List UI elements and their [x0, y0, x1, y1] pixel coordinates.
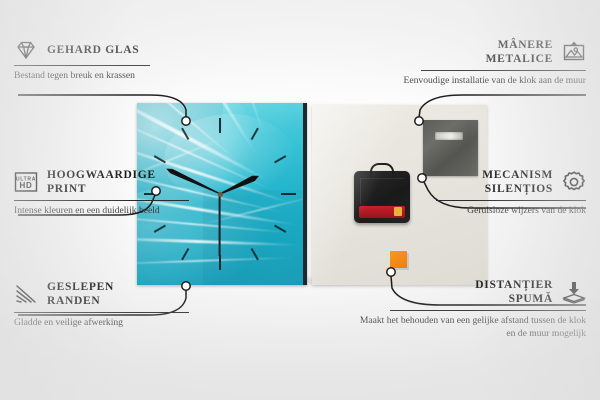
- callout-description: Eenvoudige installatie van de klok aan d…: [384, 75, 586, 88]
- callout-high-quality-print: ultra HD HOOGWAARDIGE PRINT Intense kleu…: [14, 168, 214, 218]
- callout-title-row: DISTANȚIER SPUMĂ: [356, 278, 586, 307]
- callout-title-row: ultra HD HOOGWAARDIGE PRINT: [14, 168, 214, 197]
- clock-tick-12: [219, 118, 221, 194]
- clock-tick-3: [220, 193, 296, 195]
- hanger-slot: [435, 132, 463, 140]
- callout-description: Geruisloze wijzers van de klok: [384, 205, 586, 218]
- callout-polished-edges: GESLEPEN RANDEN Gladde en veilige afwerk…: [14, 280, 219, 330]
- callout-divider: [390, 310, 586, 311]
- callout-metal-handles: MÂNERE METALICE Eenvoudige installatie v…: [384, 38, 586, 88]
- callout-divider: [436, 200, 586, 201]
- callout-divider: [14, 65, 150, 66]
- callout-divider: [14, 200, 189, 201]
- callout-title-row: GESLEPEN RANDEN: [14, 280, 219, 309]
- clock-center-pin: [218, 192, 223, 197]
- clock-second-hand: [219, 194, 221, 256]
- gear-icon: [562, 170, 586, 194]
- callout-divider: [14, 312, 189, 313]
- callout-silent-mechanism: MECANISM SILENȚIOS Geruisloze wijzers va…: [384, 168, 586, 218]
- arrow-down-onto-pad-icon: [562, 280, 586, 304]
- callout-title: DISTANȚIER SPUMĂ: [435, 278, 553, 307]
- callout-title: MECANISM SILENȚIOS: [435, 168, 553, 197]
- callout-title: GEHARD GLAS: [47, 43, 139, 57]
- callout-divider: [421, 70, 586, 71]
- callout-description: Maakt het behouden van een gelijke afsta…: [356, 315, 586, 340]
- callout-title: HOOGWAARDIGE PRINT: [47, 168, 165, 197]
- infographic-stage: GEHARD GLAS Bestand tegen breuk en krass…: [0, 0, 600, 400]
- callout-title: MÂNERE METALICE: [435, 38, 553, 67]
- svg-text:HD: HD: [20, 182, 33, 191]
- diamond-icon: [14, 38, 38, 62]
- bevelled-edge-icon: [14, 282, 38, 306]
- callout-title-row: MECANISM SILENȚIOS: [384, 168, 586, 197]
- foam-spacer: [390, 251, 407, 268]
- callout-foam-spacer: DISTANȚIER SPUMĂ Maakt het behouden van …: [356, 278, 586, 340]
- callout-tempered-glass: GEHARD GLAS Bestand tegen breuk en krass…: [14, 38, 214, 83]
- callout-title-row: MÂNERE METALICE: [384, 38, 586, 67]
- callout-title: GESLEPEN RANDEN: [47, 280, 165, 309]
- picture-hanger-icon: [562, 40, 586, 64]
- callout-description: Gladde en veilige afwerking: [14, 317, 219, 330]
- ultra-hd-icon: ultra HD: [14, 170, 38, 194]
- callout-description: Intense kleuren en een duidelijk beeld: [14, 205, 214, 218]
- callout-title-row: GEHARD GLAS: [14, 38, 214, 62]
- callout-description: Bestand tegen breuk en krassen: [14, 70, 214, 83]
